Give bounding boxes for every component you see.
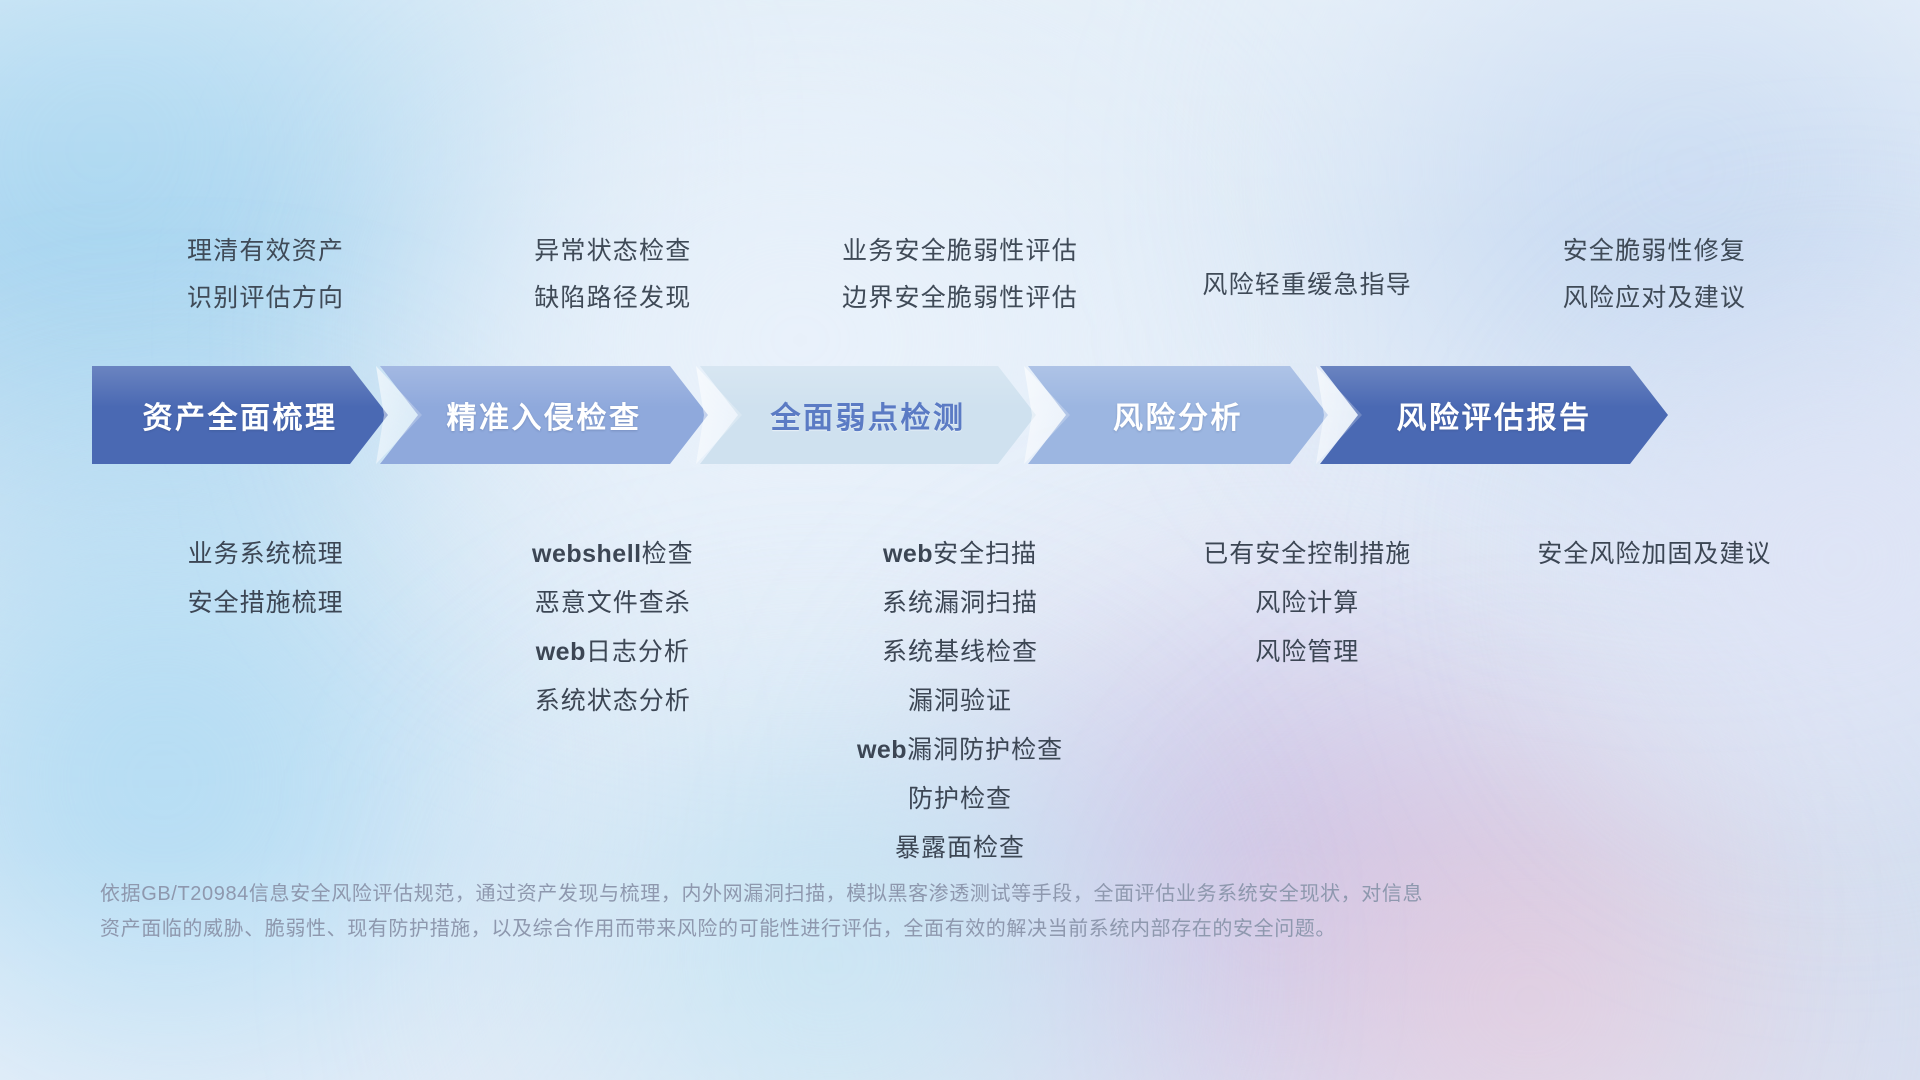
- chevron-label: 精准入侵检查: [447, 393, 642, 437]
- top-item: 理清有效资产: [92, 228, 439, 275]
- top-item: 边界安全脆弱性评估: [786, 275, 1133, 322]
- bottom-item: 系统状态分析: [439, 677, 786, 726]
- bottom-item: 系统基线检查: [786, 628, 1133, 677]
- bottom-item: 已有安全控制措施: [1134, 530, 1481, 579]
- stage-activities-bottom-row: 业务系统梳理安全措施梳理 webshell检查恶意文件查杀web日志分析系统状态…: [92, 530, 1828, 873]
- bottom-item-keyword: web: [536, 638, 586, 666]
- chevron-stage-risk-report[interactable]: 风险评估报告: [1320, 366, 1668, 464]
- top-item: 风险应对及建议: [1481, 275, 1828, 322]
- stage-bottom-risk-analysis: 已有安全控制措施风险计算风险管理: [1134, 530, 1481, 677]
- bottom-item: 暴露面检查: [786, 824, 1133, 873]
- stage-outcomes-top-row: 理清有效资产 识别评估方向 异常状态检查 缺陷路径发现 业务安全脆弱性评估 边界…: [92, 228, 1828, 322]
- stage-bottom-risk-report: 安全风险加固及建议: [1481, 530, 1828, 579]
- footer-line-2: 资产面临的威胁、脆弱性、现有防护措施，以及综合作用而带来风险的可能性进行评估，全…: [100, 912, 1640, 947]
- bottom-item: 安全风险加固及建议: [1481, 530, 1828, 579]
- bottom-item: 漏洞验证: [786, 677, 1133, 726]
- bottom-item: 系统漏洞扫描: [786, 579, 1133, 628]
- chevron-label: 全面弱点检测: [771, 393, 966, 437]
- chevron-label: 资产全面梳理: [143, 393, 338, 437]
- bottom-item: 风险计算: [1134, 579, 1481, 628]
- bottom-item: 风险管理: [1134, 628, 1481, 677]
- chevron-label: 风险评估报告: [1397, 393, 1592, 437]
- bottom-item-keyword: webshell: [532, 540, 642, 568]
- risk-assessment-process-diagram: 理清有效资产 识别评估方向 异常状态检查 缺陷路径发现 业务安全脆弱性评估 边界…: [0, 0, 1920, 1080]
- stage-bottom-intrusion-check: webshell检查恶意文件查杀web日志分析系统状态分析: [439, 530, 786, 726]
- chevron-stage-weakness-detection[interactable]: 全面弱点检测: [700, 366, 1036, 464]
- top-item: 缺陷路径发现: [439, 275, 786, 322]
- chevron-label: 风险分析: [1113, 393, 1243, 437]
- top-item: 异常状态检查: [439, 228, 786, 275]
- bottom-item-keyword: web: [857, 736, 907, 764]
- bottom-item: web日志分析: [439, 628, 786, 677]
- bottom-item: web漏洞防护检查: [786, 726, 1133, 775]
- stage-bottom-asset-inventory: 业务系统梳理安全措施梳理: [92, 530, 439, 628]
- bottom-item: 安全措施梳理: [92, 579, 439, 628]
- stage-bottom-weakness-detection: web安全扫描系统漏洞扫描系统基线检查漏洞验证web漏洞防护检查防护检查暴露面检…: [786, 530, 1133, 873]
- bottom-item: 防护检查: [786, 775, 1133, 824]
- stage-top-risk-report: 安全脆弱性修复 风险应对及建议: [1481, 228, 1828, 322]
- top-item: 识别评估方向: [92, 275, 439, 322]
- top-item: 风险轻重缓急指导: [1134, 262, 1481, 309]
- bottom-item-keyword: web: [883, 540, 933, 568]
- top-item: 业务安全脆弱性评估: [786, 228, 1133, 275]
- bottom-item: 恶意文件查杀: [439, 579, 786, 628]
- stage-top-asset-inventory: 理清有效资产 识别评估方向: [92, 228, 439, 322]
- stage-top-risk-analysis: 风险轻重缓急指导: [1134, 228, 1481, 309]
- footer-line-1: 依据GB/T20984信息安全风险评估规范，通过资产发现与梳理，内外网漏洞扫描，…: [100, 877, 1640, 912]
- bottom-item: web安全扫描: [786, 530, 1133, 579]
- bottom-item: webshell检查: [439, 530, 786, 579]
- chevron-stage-intrusion-check[interactable]: 精准入侵检查: [380, 366, 708, 464]
- stage-top-weakness-detection: 业务安全脆弱性评估 边界安全脆弱性评估: [786, 228, 1133, 322]
- process-chevron-band: 资产全面梳理 精准入侵检查 全面弱点检测 风险分析 风险评估报告: [92, 366, 1840, 464]
- chevron-stage-asset-inventory[interactable]: 资产全面梳理: [92, 366, 388, 464]
- footer-description: 依据GB/T20984信息安全风险评估规范，通过资产发现与梳理，内外网漏洞扫描，…: [100, 877, 1640, 947]
- top-item: 安全脆弱性修复: [1481, 228, 1828, 275]
- bottom-item: 业务系统梳理: [92, 530, 439, 579]
- stage-top-intrusion-check: 异常状态检查 缺陷路径发现: [439, 228, 786, 322]
- chevron-stage-risk-analysis[interactable]: 风险分析: [1028, 366, 1328, 464]
